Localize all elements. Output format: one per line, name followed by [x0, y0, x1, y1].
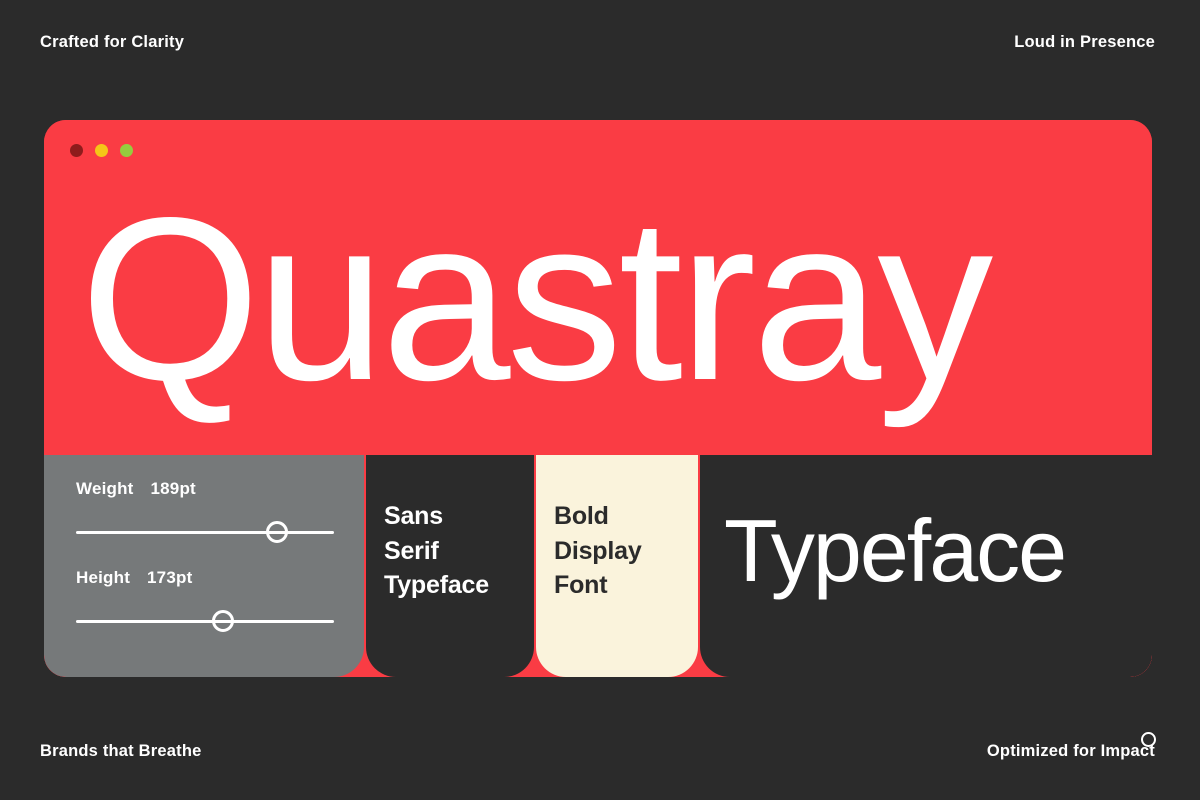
height-value: 173pt: [147, 568, 192, 587]
controls-panel: Weight 189pt Height 173pt: [44, 455, 364, 677]
bold-display-copy: Bold Display Font: [554, 499, 642, 603]
sans-copy-line-2: Serif: [384, 534, 489, 569]
weight-slider-track[interactable]: [76, 531, 334, 534]
maximize-dot-icon[interactable]: [120, 144, 133, 157]
font-name-headline: Quastray: [80, 190, 1140, 410]
weight-label-row: Weight 189pt: [76, 479, 334, 499]
weight-slider-thumb[interactable]: [266, 521, 288, 543]
tagline-bottom-right: Optimized for Impact: [987, 742, 1155, 761]
weight-slider[interactable]: [76, 521, 334, 543]
typeface-word: Typeface: [724, 507, 1065, 595]
height-slider-track[interactable]: [76, 620, 334, 623]
height-label-row: Height 173pt: [76, 568, 334, 588]
height-control: Height 173pt: [76, 568, 334, 632]
height-slider-thumb[interactable]: [212, 610, 234, 632]
weight-control: Weight 189pt: [76, 479, 334, 543]
tagline-top-left: Crafted for Clarity: [40, 33, 184, 52]
poster-stage: Crafted for Clarity Loud in Presence Bra…: [0, 0, 1200, 800]
hero-region: Quastray: [44, 120, 1152, 455]
weight-value: 189pt: [150, 479, 195, 498]
cursor-pointer-icon: [1141, 732, 1156, 747]
window-traffic-lights: [70, 144, 133, 157]
tagline-top-right: Loud in Presence: [1014, 33, 1155, 52]
sans-serif-panel: Sans Serif Typeface: [366, 455, 534, 677]
weight-label: Weight: [76, 479, 134, 498]
height-slider[interactable]: [76, 610, 334, 632]
cream-copy-line-3: Font: [554, 568, 642, 603]
minimize-dot-icon[interactable]: [95, 144, 108, 157]
tagline-bottom-left: Brands that Breathe: [40, 742, 202, 761]
sans-serif-copy: Sans Serif Typeface: [384, 499, 489, 603]
cream-copy-line-1: Bold: [554, 499, 642, 534]
panel-row: Weight 189pt Height 173pt: [44, 455, 1152, 677]
height-label: Height: [76, 568, 130, 587]
specimen-card: Quastray Weight 189pt Height: [44, 120, 1152, 677]
close-dot-icon[interactable]: [70, 144, 83, 157]
sans-copy-line-3: Typeface: [384, 568, 489, 603]
cream-copy-line-2: Display: [554, 534, 642, 569]
sans-copy-line-1: Sans: [384, 499, 489, 534]
typeface-showcase-panel: Typeface: [700, 455, 1152, 677]
bold-display-panel: Bold Display Font: [536, 455, 698, 677]
